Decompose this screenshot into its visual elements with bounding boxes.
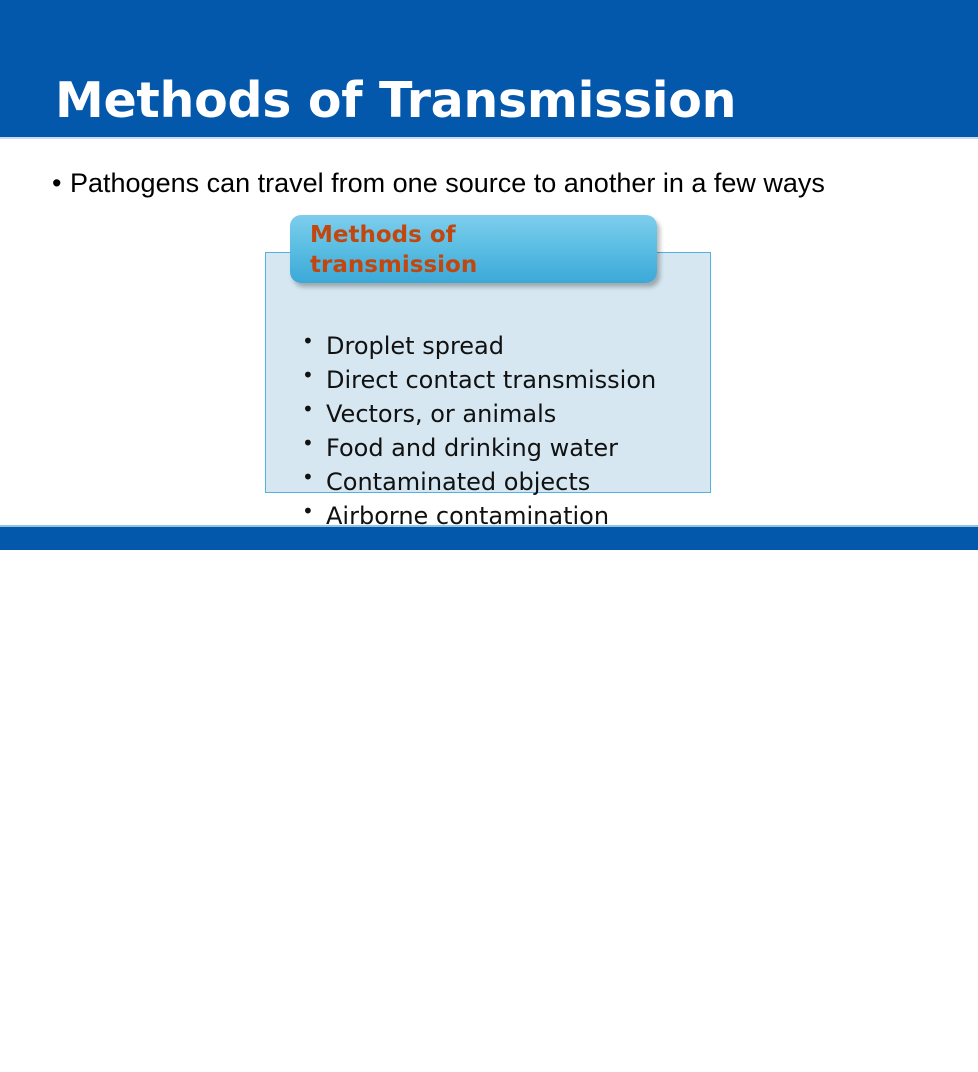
diagram-body-panel: • Droplet spread • Direct contact transm…	[265, 252, 711, 493]
diagram-header-label: Methods of transmission	[310, 220, 640, 280]
diagram-header-chip: Methods of transmission	[290, 215, 657, 283]
copyright-text: Copyright Goodheart-Willcox Co., Inc. Ma…	[542, 1057, 959, 1072]
title-bar: Methods of Transmission	[0, 0, 978, 137]
page-title: Methods of Transmission	[55, 71, 736, 131]
list-bullet-icon: •	[302, 324, 314, 358]
list-item-label: Direct contact transmission	[326, 366, 656, 394]
list-item: • Droplet spread	[274, 329, 704, 363]
list-item-label: Droplet spread	[326, 332, 504, 360]
title-underline-divider	[0, 137, 978, 139]
diagram-header-label-line1: Methods of	[310, 220, 640, 250]
list-item-label: Vectors, or animals	[326, 400, 556, 428]
transmission-methods-list: • Droplet spread • Direct contact transm…	[274, 329, 704, 533]
list-item: • Food and drinking water	[274, 431, 704, 465]
list-bullet-icon: •	[302, 392, 314, 426]
list-bullet-icon: •	[302, 358, 314, 392]
bullet-icon: •	[52, 165, 70, 201]
list-bullet-icon: •	[302, 460, 314, 494]
list-bullet-icon: •	[302, 426, 314, 460]
list-item-label: Food and drinking water	[326, 434, 618, 462]
body-bullet-line: •Pathogens can travel from one source to…	[52, 165, 932, 201]
slide: Methods of Transmission •Pathogens can t…	[0, 0, 978, 550]
list-item: • Vectors, or animals	[274, 397, 704, 431]
list-bullet-icon: •	[302, 494, 314, 528]
list-item-label: Contaminated objects	[326, 468, 590, 496]
body-bullet-text: Pathogens can travel from one source to …	[70, 168, 825, 198]
diagram-header-label-line2: transmission	[310, 250, 640, 280]
list-item: • Direct contact transmission	[274, 363, 704, 397]
list-item: • Contaminated objects	[274, 465, 704, 499]
footer-bar: Copyright Goodheart-Willcox Co., Inc. Ma…	[0, 527, 978, 550]
transmission-diagram: • Droplet spread • Direct contact transm…	[265, 215, 715, 497]
